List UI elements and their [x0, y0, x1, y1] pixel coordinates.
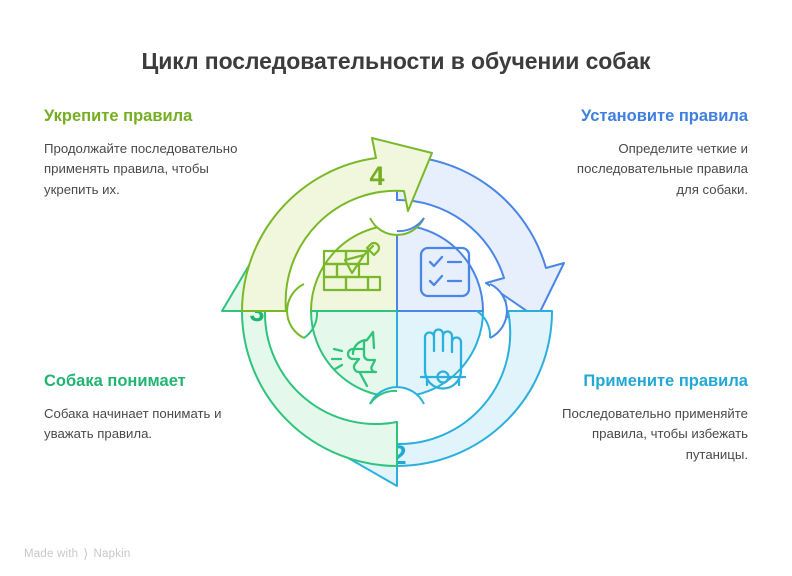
- watermark-brand: Napkin: [94, 548, 131, 560]
- inner-quadrant-disc: [287, 215, 507, 411]
- napkin-logo-icon: ⟩: [83, 547, 88, 560]
- step-4-text-block: Укрепите правила Продолжайте последовате…: [44, 105, 240, 200]
- step-4-heading: Укрепите правила: [44, 105, 240, 128]
- step-3-text-block: Собака понимает Собака начинает понимать…: [44, 370, 240, 445]
- watermark: Made with ⟩ Napkin: [24, 547, 131, 560]
- step-3-body: Собака начинает понимать и уважать прави…: [44, 404, 240, 444]
- inner-notch-left: [287, 284, 304, 338]
- watermark-prefix: Made with: [24, 548, 78, 560]
- step-4-body: Продолжайте последовательно применять пр…: [44, 139, 240, 199]
- cycle-number-4: 4: [369, 161, 384, 191]
- page-title: Цикл последовательности в обучении собак: [0, 48, 792, 75]
- cycle-diagram: 1 2 3 4: [212, 105, 582, 517]
- step-3-heading: Собака понимает: [44, 370, 240, 393]
